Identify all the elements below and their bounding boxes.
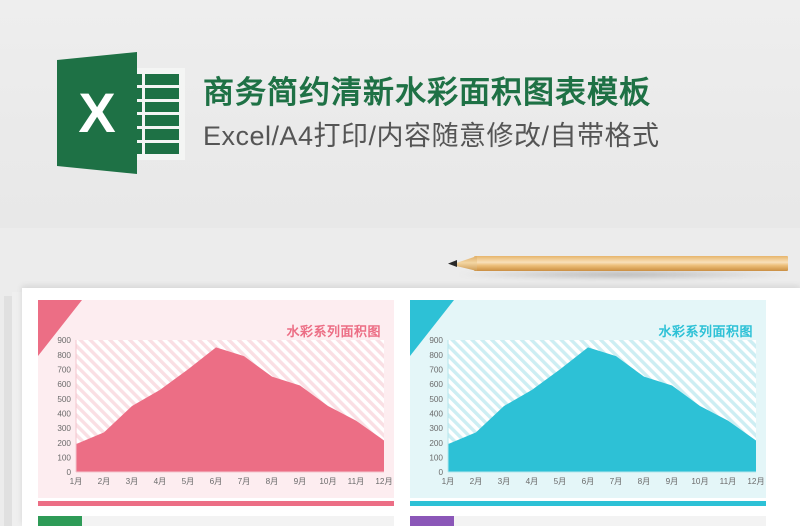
svg-text:8月: 8月 bbox=[266, 477, 279, 486]
svg-text:600: 600 bbox=[429, 380, 443, 389]
svg-text:7月: 7月 bbox=[610, 477, 623, 486]
chart-card-green-partial[interactable] bbox=[38, 516, 394, 526]
svg-text:400: 400 bbox=[429, 410, 443, 419]
svg-text:0: 0 bbox=[438, 468, 443, 477]
svg-text:700: 700 bbox=[429, 366, 443, 375]
svg-text:10月: 10月 bbox=[319, 477, 336, 486]
svg-text:1月: 1月 bbox=[70, 477, 83, 486]
svg-text:11月: 11月 bbox=[720, 477, 737, 486]
next-chart-row bbox=[38, 516, 766, 526]
chart-accent-bar-pink bbox=[38, 501, 394, 506]
svg-text:9月: 9月 bbox=[666, 477, 679, 486]
svg-text:500: 500 bbox=[57, 395, 71, 404]
chart-card-pink[interactable]: 01002003004005006007008009001月2月3月4月5月6月… bbox=[38, 300, 394, 506]
page-title: 商务简约清新水彩面积图表模板 bbox=[203, 74, 660, 113]
excel-logo-icon: X bbox=[57, 52, 185, 174]
svg-text:300: 300 bbox=[57, 424, 71, 433]
paper-sheet: 01002003004005006007008009001月2月3月4月5月6月… bbox=[22, 288, 800, 526]
svg-text:400: 400 bbox=[57, 410, 71, 419]
corner-triangle-teal bbox=[410, 300, 454, 356]
svg-text:200: 200 bbox=[429, 439, 443, 448]
chart-title-pink: 水彩系列面积图 bbox=[286, 321, 381, 340]
chart-card-purple-tab bbox=[410, 516, 454, 526]
chart-accent-bar-teal bbox=[410, 501, 766, 506]
chart-card-purple-partial[interactable] bbox=[410, 516, 766, 526]
svg-text:5月: 5月 bbox=[182, 477, 195, 486]
corner-triangle-pink bbox=[38, 300, 82, 356]
chart-card-row: 01002003004005006007008009001月2月3月4月5月6月… bbox=[38, 300, 766, 506]
svg-text:700: 700 bbox=[57, 366, 71, 375]
svg-text:10月: 10月 bbox=[691, 477, 708, 486]
header-banner: X 商务简约清新水彩面积图表模板 Excel/A4打印/内容随意修改/自带格式 bbox=[0, 0, 800, 228]
excel-logo-letter: X bbox=[57, 52, 137, 174]
svg-text:100: 100 bbox=[429, 454, 443, 463]
svg-text:600: 600 bbox=[57, 380, 71, 389]
chart-title-teal: 水彩系列面积图 bbox=[658, 321, 753, 340]
pencil-icon bbox=[448, 250, 788, 284]
svg-text:12月: 12月 bbox=[747, 477, 764, 486]
title-block: 商务简约清新水彩面积图表模板 Excel/A4打印/内容随意修改/自带格式 bbox=[203, 72, 660, 154]
svg-text:12月: 12月 bbox=[375, 477, 392, 486]
svg-text:6月: 6月 bbox=[210, 477, 223, 486]
chart-card-green-tab bbox=[38, 516, 82, 526]
svg-text:6月: 6月 bbox=[582, 477, 595, 486]
svg-text:1月: 1月 bbox=[442, 477, 455, 486]
svg-text:8月: 8月 bbox=[638, 477, 651, 486]
header-content: X 商务简约清新水彩面积图表模板 Excel/A4打印/内容随意修改/自带格式 bbox=[57, 52, 660, 174]
svg-text:500: 500 bbox=[429, 395, 443, 404]
svg-text:3月: 3月 bbox=[126, 477, 139, 486]
svg-text:300: 300 bbox=[429, 424, 443, 433]
page-subtitle: Excel/A4打印/内容随意修改/自带格式 bbox=[203, 119, 660, 154]
svg-text:5月: 5月 bbox=[554, 477, 567, 486]
svg-text:4月: 4月 bbox=[526, 477, 539, 486]
svg-text:7月: 7月 bbox=[238, 477, 251, 486]
chart-card-teal[interactable]: 01002003004005006007008009001月2月3月4月5月6月… bbox=[410, 300, 766, 506]
svg-text:11月: 11月 bbox=[348, 477, 365, 486]
svg-text:0: 0 bbox=[66, 468, 71, 477]
svg-text:100: 100 bbox=[57, 454, 71, 463]
pencil-lead bbox=[448, 260, 457, 267]
svg-text:200: 200 bbox=[57, 439, 71, 448]
svg-text:4月: 4月 bbox=[154, 477, 167, 486]
pencil-body bbox=[474, 256, 788, 271]
svg-text:2月: 2月 bbox=[470, 477, 483, 486]
svg-text:3月: 3月 bbox=[498, 477, 511, 486]
svg-text:9月: 9月 bbox=[294, 477, 307, 486]
svg-text:2月: 2月 bbox=[98, 477, 111, 486]
